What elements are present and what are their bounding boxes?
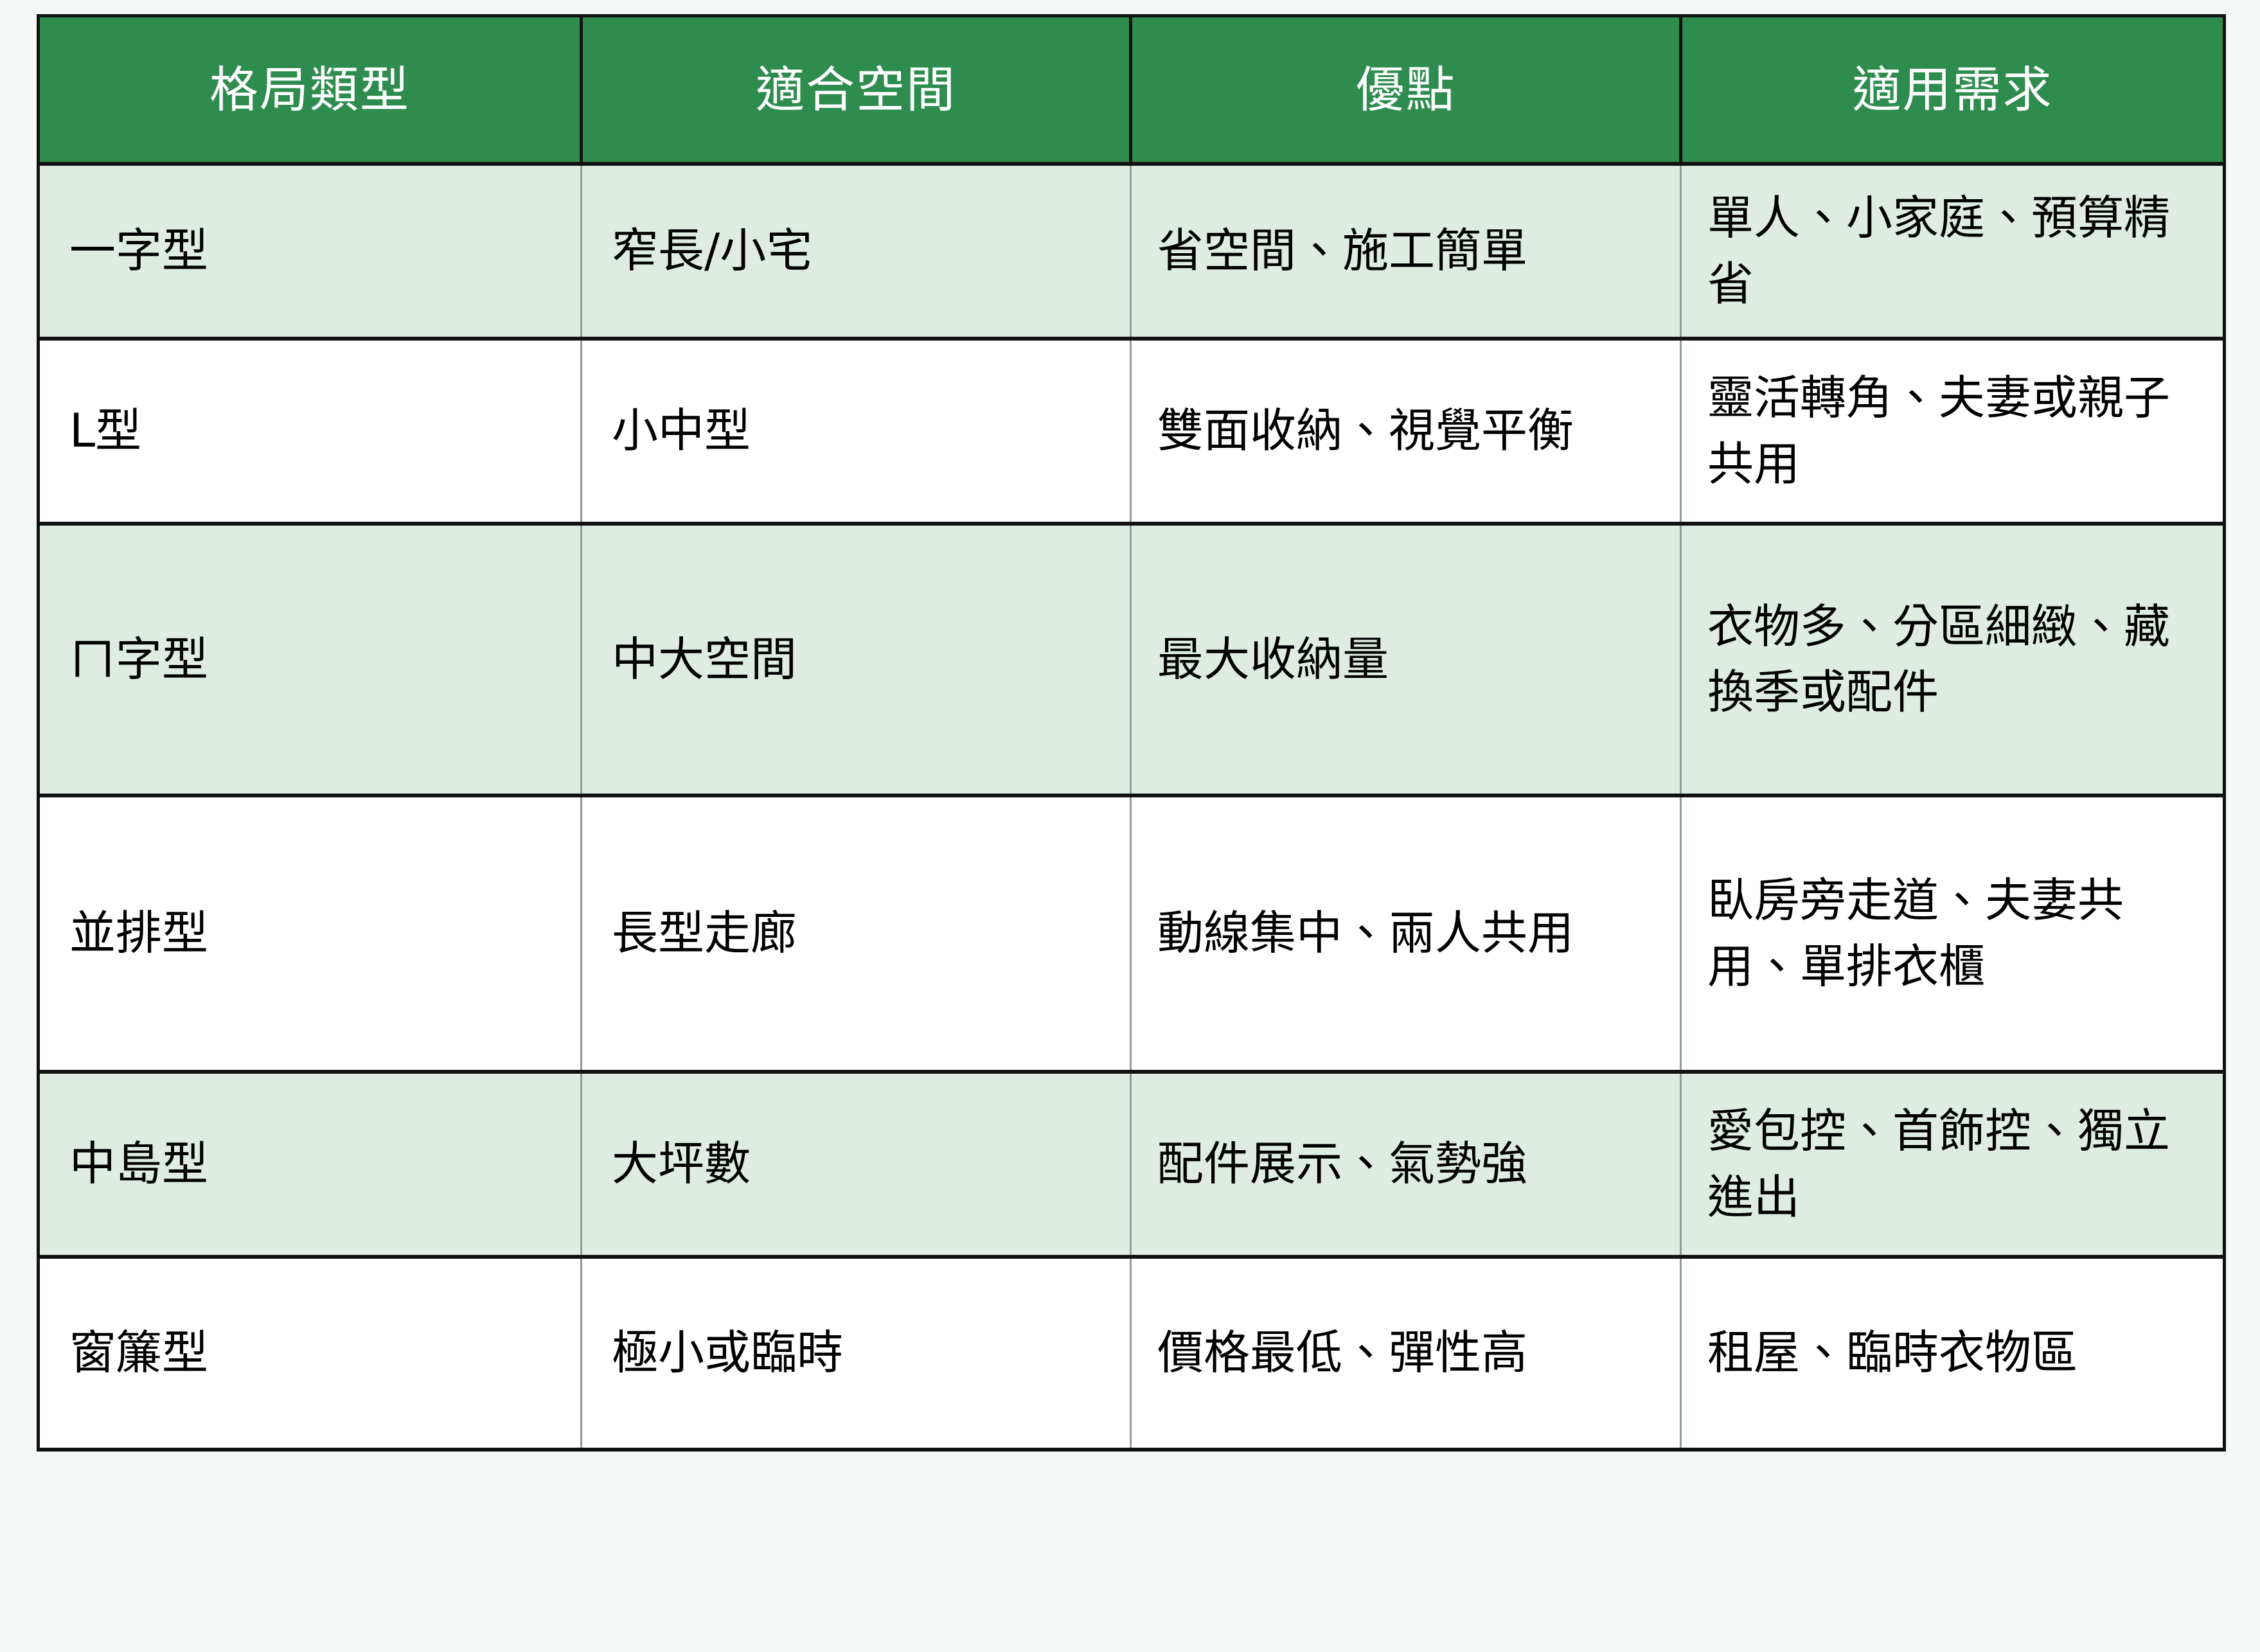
cell-advantages: 價格最低、彈性高 <box>1131 1257 1681 1450</box>
table-row: ㄇ字型 中大空間 最大收納量 衣物多、分區細緻、藏換季或配件 <box>39 524 2225 795</box>
cell-advantages: 雙面收納、視覺平衡 <box>1131 339 1681 524</box>
cell-suitable-space: 中大空間 <box>582 524 1131 795</box>
cell-layout-type: 並排型 <box>39 795 582 1072</box>
cell-suitable-space: 極小或臨時 <box>582 1257 1131 1450</box>
column-header-pros: 優點 <box>1131 16 1681 164</box>
closet-layout-comparison-table: 格局類型 適合空間 優點 適用需求 一字型 窄長/小宅 省空間、施工簡單 單人、… <box>37 14 2226 1452</box>
table-body: 一字型 窄長/小宅 省空間、施工簡單 單人、小家庭、預算精省 L型 小中型 雙面… <box>39 164 2225 1450</box>
cell-suitable-space: 小中型 <box>582 339 1131 524</box>
cell-layout-type: L型 <box>39 339 582 524</box>
cell-suitable-space: 窄長/小宅 <box>582 164 1131 339</box>
table-row: 中島型 大坪數 配件展示、氣勢強 愛包控、首飾控、獨立進出 <box>39 1072 2225 1257</box>
cell-suitable-needs: 租屋、臨時衣物區 <box>1681 1257 2225 1450</box>
cell-layout-type: 中島型 <box>39 1072 582 1257</box>
cell-suitable-needs: 靈活轉角、夫妻或親子共用 <box>1681 339 2225 524</box>
column-header-type: 格局類型 <box>39 16 582 164</box>
cell-layout-type: ㄇ字型 <box>39 524 582 795</box>
cell-advantages: 動線集中、兩人共用 <box>1131 795 1681 1072</box>
table-header: 格局類型 適合空間 優點 適用需求 <box>39 16 2225 164</box>
table-row: 窗簾型 極小或臨時 價格最低、彈性高 租屋、臨時衣物區 <box>39 1257 2225 1450</box>
cell-advantages: 最大收納量 <box>1131 524 1681 795</box>
table-row: 並排型 長型走廊 動線集中、兩人共用 臥房旁走道、夫妻共用、單排衣櫃 <box>39 795 2225 1072</box>
cell-suitable-needs: 單人、小家庭、預算精省 <box>1681 164 2225 339</box>
table-row: 一字型 窄長/小宅 省空間、施工簡單 單人、小家庭、預算精省 <box>39 164 2225 339</box>
column-header-space: 適合空間 <box>582 16 1131 164</box>
column-header-needs: 適用需求 <box>1681 16 2225 164</box>
cell-suitable-space: 長型走廊 <box>582 795 1131 1072</box>
cell-layout-type: 一字型 <box>39 164 582 339</box>
cell-layout-type: 窗簾型 <box>39 1257 582 1450</box>
cell-suitable-needs: 愛包控、首飾控、獨立進出 <box>1681 1072 2225 1257</box>
cell-advantages: 省空間、施工簡單 <box>1131 164 1681 339</box>
cell-suitable-needs: 衣物多、分區細緻、藏換季或配件 <box>1681 524 2225 795</box>
table-row: L型 小中型 雙面收納、視覺平衡 靈活轉角、夫妻或親子共用 <box>39 339 2225 524</box>
page-canvas: 格局類型 適合空間 優點 適用需求 一字型 窄長/小宅 省空間、施工簡單 單人、… <box>0 0 2260 1652</box>
table-container: 格局類型 適合空間 優點 適用需求 一字型 窄長/小宅 省空間、施工簡單 單人、… <box>37 14 2223 1452</box>
header-row: 格局類型 適合空間 優點 適用需求 <box>39 16 2225 164</box>
cell-suitable-needs: 臥房旁走道、夫妻共用、單排衣櫃 <box>1681 795 2225 1072</box>
cell-suitable-space: 大坪數 <box>582 1072 1131 1257</box>
cell-advantages: 配件展示、氣勢強 <box>1131 1072 1681 1257</box>
